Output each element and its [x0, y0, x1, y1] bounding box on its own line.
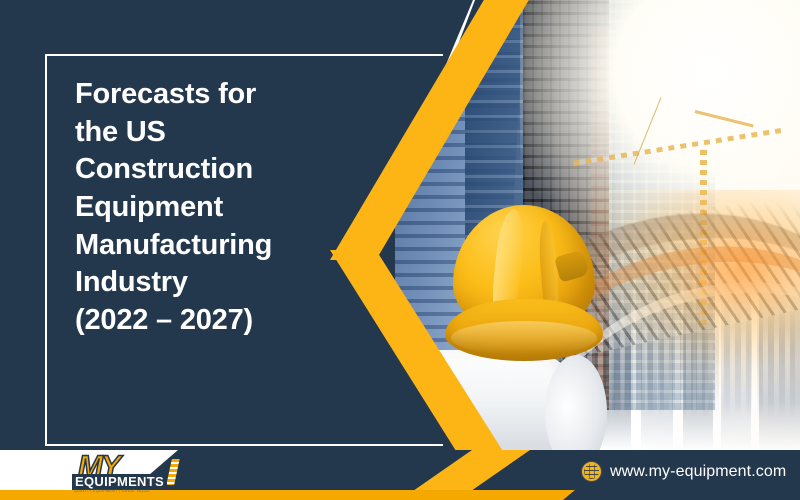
- website-link[interactable]: www.my-equipment.com: [582, 462, 786, 481]
- pipe-end-cap: [545, 355, 607, 460]
- logo-tagline: QUALITY EQUIPMENT | GREAT VALUE: [74, 489, 150, 493]
- hard-hat-icon: [445, 195, 605, 370]
- brand-logo[interactable]: MY EQUIPMENTS QUALITY EQUIPMENT | GREAT …: [72, 452, 192, 494]
- logo-hook-icon: [165, 458, 181, 486]
- website-url: www.my-equipment.com: [610, 463, 786, 481]
- logo-brand-bottom: EQUIPMENTS: [72, 474, 167, 490]
- hard-hat-brim-edge: [451, 321, 597, 355]
- marketing-banner: Forecasts for the US Construction Equipm…: [0, 0, 800, 500]
- globe-icon: [582, 462, 601, 481]
- page-title: Forecasts for the US Construction Equipm…: [75, 76, 405, 340]
